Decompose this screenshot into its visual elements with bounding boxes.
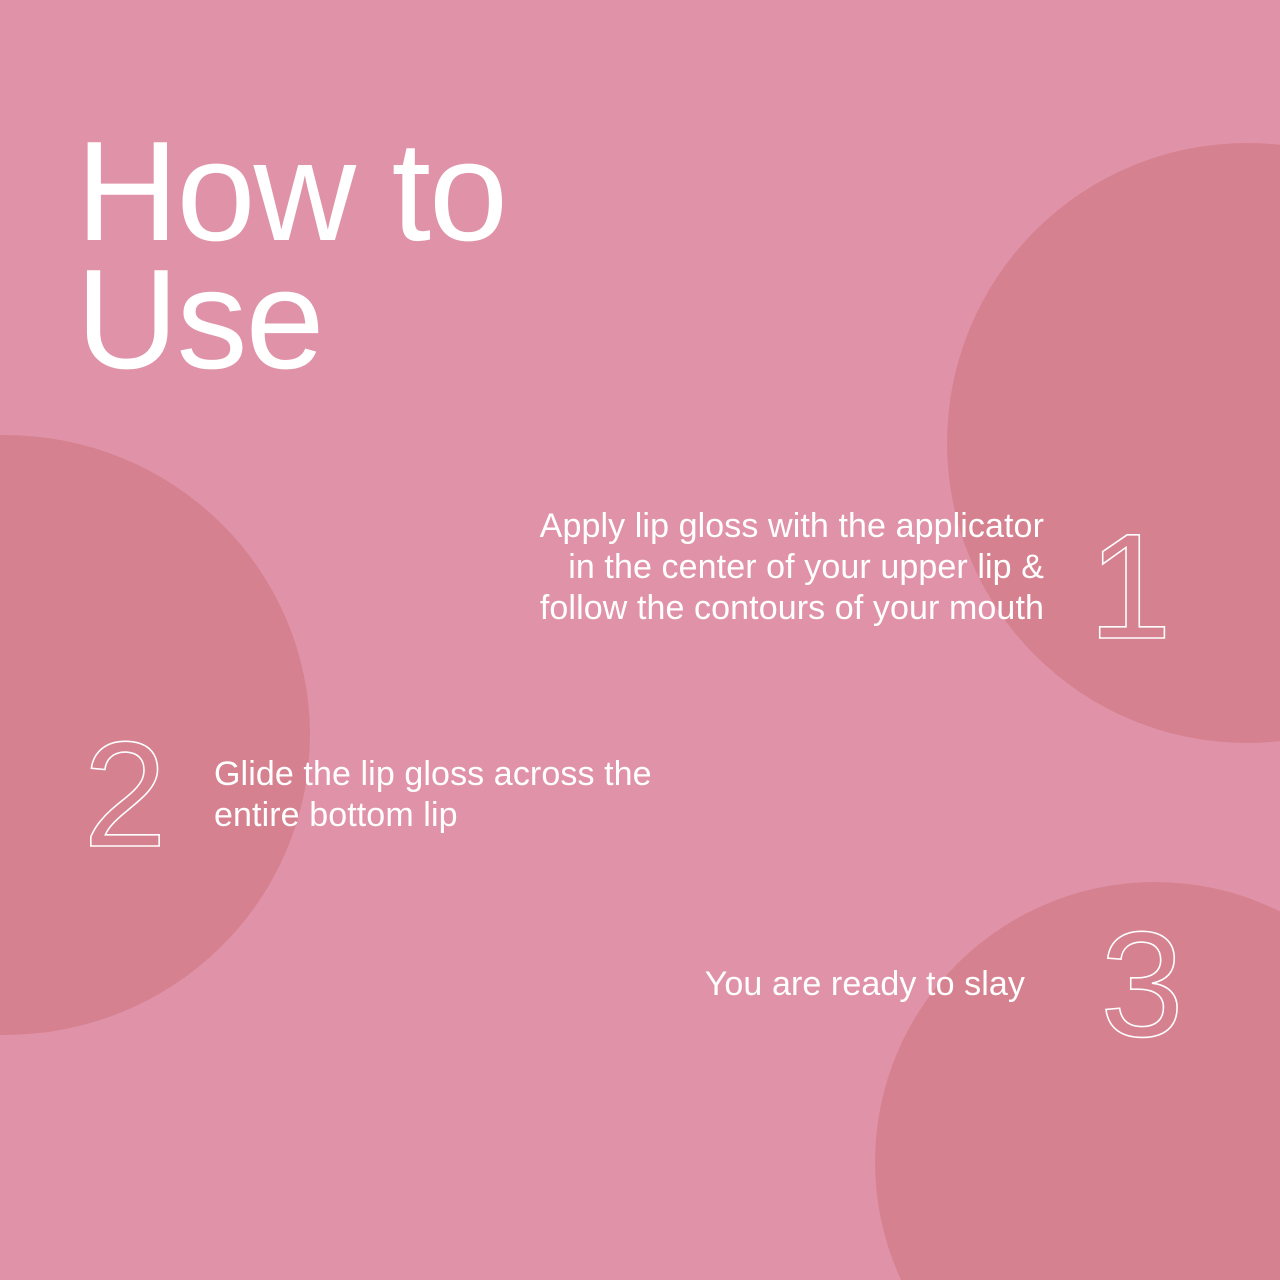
step-3-number-outline: 3 [1087, 916, 1197, 1048]
step-1-number-outline: 1 [1088, 508, 1172, 650]
step-2-number: 2 [83, 726, 166, 858]
step-3-number: 3 [1100, 916, 1183, 1048]
step-1-number: 1 [1088, 508, 1171, 650]
how-to-use-poster: How to Use Apply lip gloss with the appl… [0, 0, 1280, 1280]
step-1-text: Apply lip gloss with the applicator in t… [408, 506, 1044, 629]
step-3-text: You are ready to slay [629, 964, 1025, 1005]
step-item-3: You are ready to slay 3 [629, 916, 1197, 1048]
page-title: How to Use [76, 128, 506, 384]
circle-top-right-decoration [947, 143, 1280, 743]
step-2-number-outline: 2 [70, 726, 180, 858]
step-2-text: Glide the lip gloss across the entire bo… [214, 754, 652, 836]
step-item-2: 2 Glide the lip gloss across the entire … [70, 726, 652, 858]
step-item-1: Apply lip gloss with the applicator in t… [408, 506, 1172, 650]
